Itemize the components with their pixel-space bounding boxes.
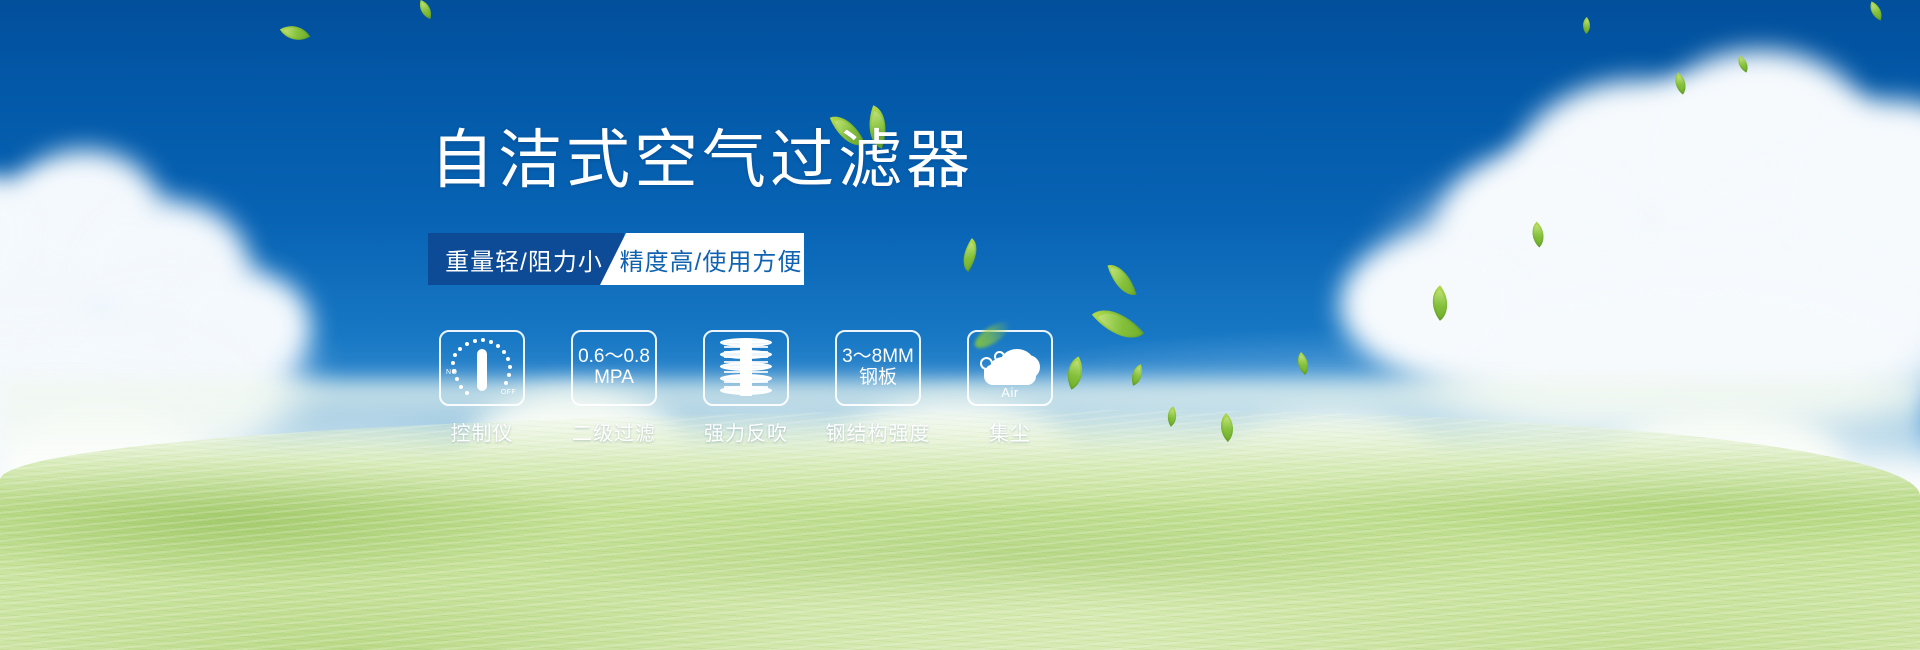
feature-item-dust-collection[interactable]: Air 集尘 — [965, 330, 1055, 446]
feature-item-controller[interactable]: NO OFF 控制仪 — [437, 330, 527, 446]
feature-caption: 集尘 — [989, 417, 1031, 446]
feature-caption: 钢结构强度 — [826, 417, 931, 446]
pressure-line1: 0.6～0.8 — [578, 346, 650, 367]
green-ray-accent — [971, 317, 1013, 353]
feature-caption: 二级过滤 — [572, 417, 656, 446]
tab-precision-convenience[interactable]: 精度高/使用方便 — [600, 233, 804, 285]
steel-thickness-text-icon: 3～8MM 钢板 — [842, 347, 914, 389]
tab-weight-resistance[interactable]: 重量轻/阻力小 — [428, 233, 624, 285]
feature-item-two-stage-filter[interactable]: 0.6～0.8 MPA 二级过滤 — [569, 330, 659, 446]
air-cloud-icon: Air — [978, 339, 1042, 397]
feature-icon-box: NO OFF — [439, 330, 525, 406]
air-label: Air — [978, 385, 1042, 400]
feature-caption: 控制仪 — [451, 417, 514, 446]
feature-item-steel-strength[interactable]: 3～8MM 钢板 钢结构强度 — [833, 330, 923, 446]
banner-content: 自洁式空气过滤器 重量轻/阻力小 精度高/使用方便 — [0, 0, 1920, 650]
feature-item-reverse-blow[interactable]: 强力反吹 — [701, 330, 791, 446]
steel-line2: 钢板 — [842, 368, 914, 389]
gauge-label-off: OFF — [501, 389, 516, 396]
pressure-text-icon: 0.6～0.8 MPA — [578, 347, 650, 389]
feature-tabs: 重量轻/阻力小 精度高/使用方便 — [428, 233, 804, 285]
pressure-line2: MPA — [578, 368, 650, 389]
feature-caption: 强力反吹 — [704, 417, 788, 446]
gauge-label-no: NO — [446, 369, 457, 376]
feature-icon-box: Air — [967, 330, 1053, 406]
feature-icon-box: 0.6～0.8 MPA — [571, 330, 657, 406]
gauge-dial-icon: NO OFF — [449, 339, 515, 397]
hero-banner: 自洁式空气过滤器 重量轻/阻力小 精度高/使用方便 — [0, 0, 1920, 650]
banner-title: 自洁式空气过滤器 — [430, 128, 974, 192]
feature-icon-box: 3～8MM 钢板 — [835, 330, 921, 406]
filter-cartridge-icon — [720, 338, 772, 398]
steel-line1: 3～8MM — [842, 346, 914, 367]
tab-secondary-wrapper: 精度高/使用方便 — [600, 233, 804, 285]
feature-icon-row: NO OFF 控制仪 0.6～0.8 MPA 二级过滤 — [437, 330, 1055, 446]
gauge-needle — [477, 349, 487, 391]
feature-icon-box — [703, 330, 789, 406]
